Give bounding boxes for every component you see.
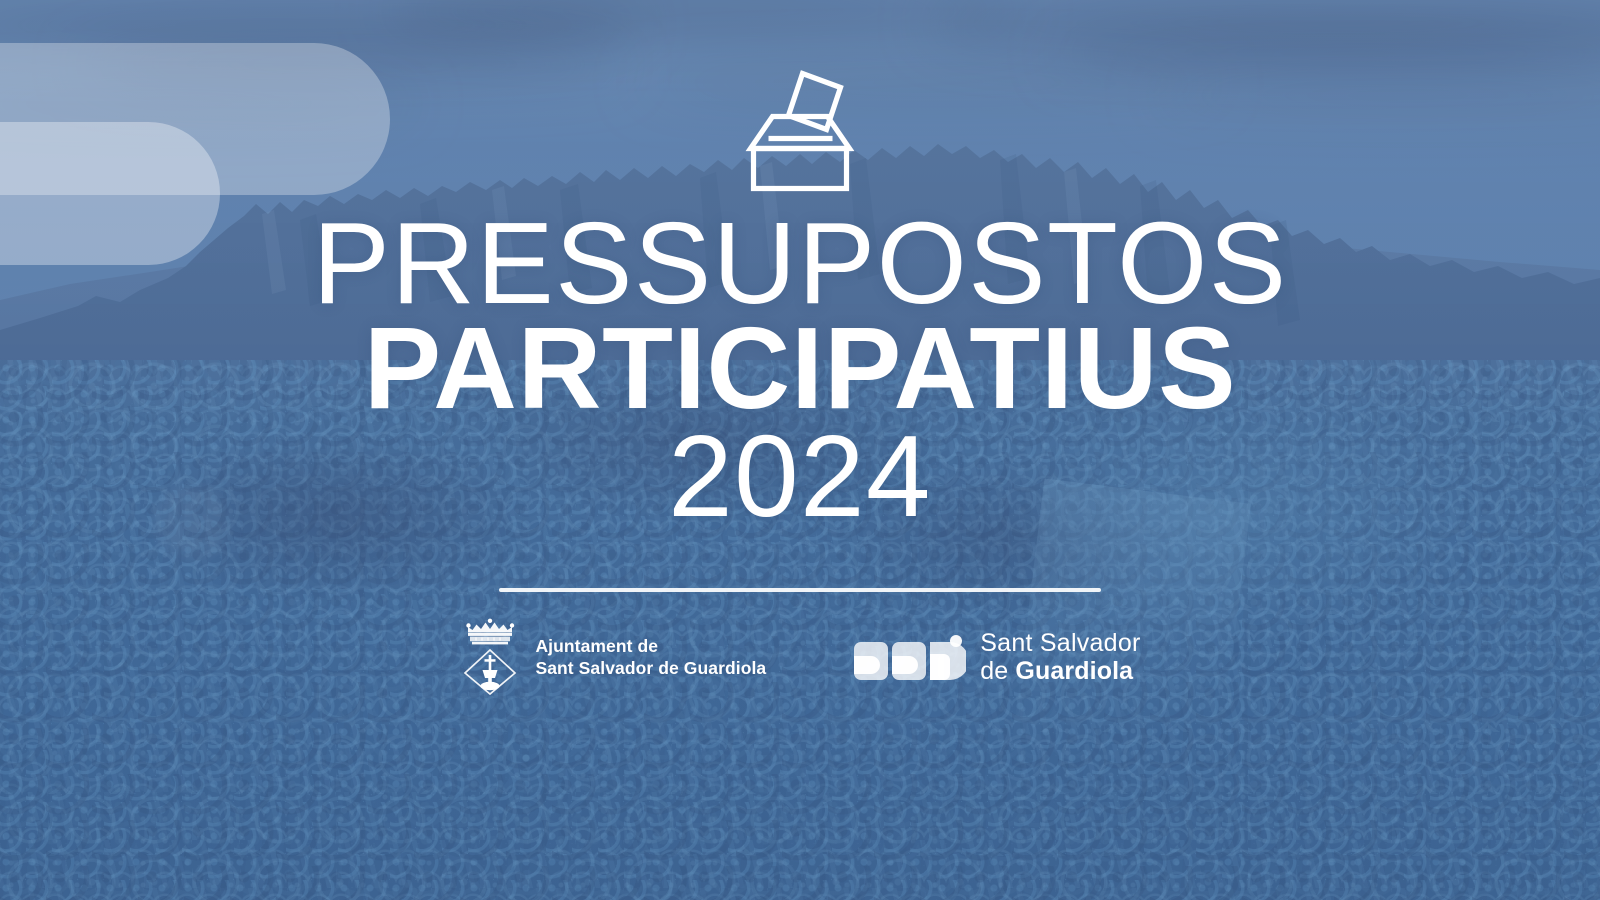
crown-and-shield-crest-icon: [459, 618, 521, 696]
logo-row: Ajuntament de Sant Salvador de Guardiola: [459, 618, 1140, 696]
ssg-monogram-icon: [854, 634, 966, 680]
page-title: PRESSUPOSTOS PARTICIPATIUS 2024: [312, 208, 1287, 532]
poster-content: PRESSUPOSTOS PARTICIPATIUS 2024: [0, 0, 1600, 696]
ssg-line-1: Sant Salvador: [980, 629, 1140, 657]
title-line-3: 2024: [312, 421, 1287, 532]
ssg-logo-text: Sant Salvador de Guardiola: [980, 629, 1140, 685]
ssg-line-2-bold: Guardiola: [1015, 657, 1133, 685]
ajuntament-line-2: Sant Salvador de Guardiola: [535, 657, 766, 679]
divider-rule: [499, 588, 1101, 592]
ajuntament-logo: Ajuntament de Sant Salvador de Guardiola: [459, 618, 766, 696]
ssg-line-2: de Guardiola: [980, 657, 1140, 685]
ssg-line-2-light: de: [980, 657, 1015, 685]
ssg-logo: Sant Salvador de Guardiola: [854, 629, 1140, 685]
poster-canvas: PRESSUPOSTOS PARTICIPATIUS 2024: [0, 0, 1600, 900]
ballot-box-icon: [744, 62, 856, 194]
ajuntament-logo-text: Ajuntament de Sant Salvador de Guardiola: [535, 635, 766, 680]
ajuntament-line-1: Ajuntament de: [535, 635, 766, 657]
title-line-2: PARTICIPATIUS: [312, 313, 1287, 424]
